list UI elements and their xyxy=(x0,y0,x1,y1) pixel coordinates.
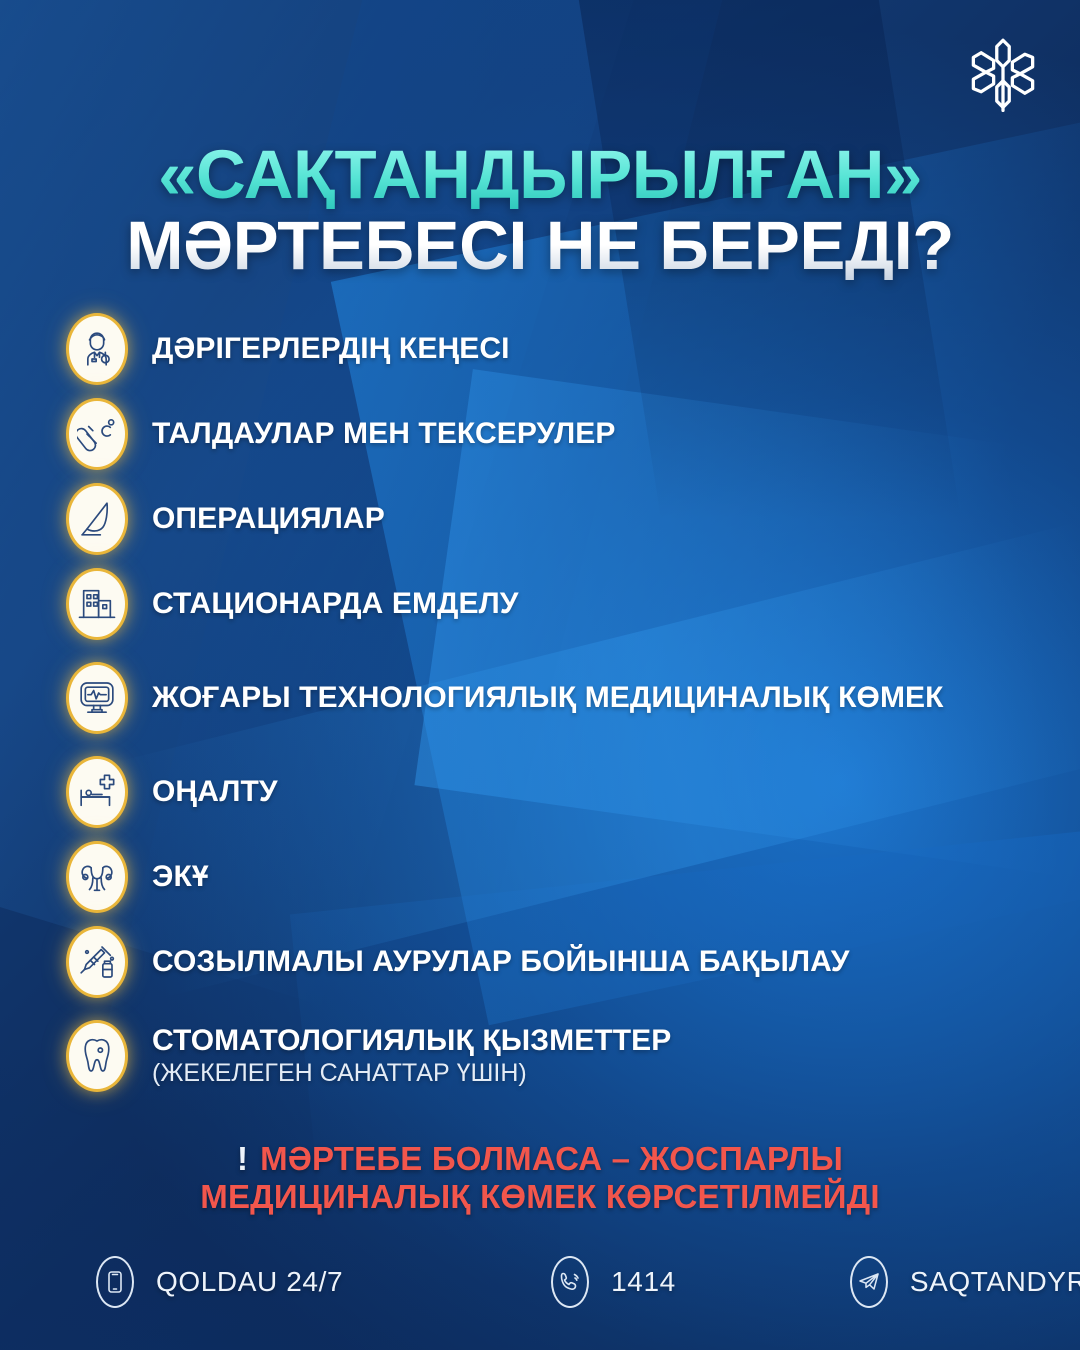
benefits-list: ДӘРІГЕРЛЕРДІҢ КЕҢЕСІ ТАЛДАУЛАР МЕН ТЕКСЕ… xyxy=(66,312,1046,1113)
contact-label: QOLDAU 24/7 xyxy=(156,1266,343,1298)
hexagonal-ornament-logo-icon xyxy=(964,34,1042,112)
list-item-sublabel: (ЖЕКЕЛЕГЕН САНАТТАР ҮШІН) xyxy=(152,1059,671,1087)
list-item-label: ОПЕРАЦИЯЛАР xyxy=(152,503,385,535)
scalpel-icon xyxy=(66,483,128,555)
doctor-icon xyxy=(66,313,128,385)
contact-phone[interactable]: 1414 xyxy=(551,1256,676,1308)
list-item: ДӘРІГЕРЛЕРДІҢ КЕҢЕСІ xyxy=(66,312,1046,386)
warning-line-1: !МӘРТЕБЕ БОЛМАСА – ЖОСПАРЛЫ xyxy=(0,1140,1080,1178)
list-item: ЭКҰ xyxy=(66,840,1046,914)
footer-contacts: QOLDAU 24/7 1414 SAQTANDYRÝBOT xyxy=(0,1256,1080,1308)
list-item-label: ТАЛДАУЛАР МЕН ТЕКСЕРУЛЕР xyxy=(152,418,616,450)
uterus-icon xyxy=(66,841,128,913)
warning-banner: !МӘРТЕБЕ БОЛМАСА – ЖОСПАРЛЫ МЕДИЦИНАЛЫҚ … xyxy=(0,1140,1080,1217)
hospital-icon xyxy=(66,568,128,640)
thermometer-icon xyxy=(66,398,128,470)
exclamation-icon: ! xyxy=(237,1140,248,1177)
ecg-monitor-icon xyxy=(66,662,128,734)
list-item: ТАЛДАУЛАР МЕН ТЕКСЕРУЛЕР xyxy=(66,397,1046,471)
list-item-label: ЖОҒАРЫ ТЕХНОЛОГИЯЛЫҚ МЕДИЦИНАЛЫҚ КӨМЕК xyxy=(152,682,944,714)
list-item: ОПЕРАЦИЯЛАР xyxy=(66,482,1046,556)
hospital-bed-icon xyxy=(66,756,128,828)
list-item-label: СТАЦИОНАРДА ЕМДЕЛУ xyxy=(152,588,519,620)
list-item-label: ДӘРІГЕРЛЕРДІҢ КЕҢЕСІ xyxy=(152,333,510,365)
syringe-vial-icon xyxy=(66,926,128,998)
list-item: ЖОҒАРЫ ТЕХНОЛОГИЯЛЫҚ МЕДИЦИНАЛЫҚ КӨМЕК xyxy=(66,652,1046,744)
list-item-label: ЭКҰ xyxy=(152,861,209,893)
list-item: ОҢАЛТУ xyxy=(66,755,1046,829)
list-item: СОЗЫЛМАЛЫ АУРУЛАР БОЙЫНША БАҚЫЛАУ xyxy=(66,925,1046,999)
contact-label: 1414 xyxy=(611,1266,676,1298)
list-item-label: СТОМАТОЛОГИЯЛЫҚ ҚЫЗМЕТТЕР xyxy=(152,1025,671,1057)
contact-telegram[interactable]: SAQTANDYRÝBOT xyxy=(850,1256,1080,1308)
list-item: СТАЦИОНАРДА ЕМДЕЛУ xyxy=(66,567,1046,641)
poster-canvas: «САҚТАНДЫРЫЛҒАН» МӘРТЕБЕСІ НЕ БЕРЕДІ? ДӘ… xyxy=(0,0,1080,1350)
warning-text-1: МӘРТЕБЕ БОЛМАСА – ЖОСПАРЛЫ xyxy=(260,1140,843,1177)
contact-label: SAQTANDYRÝBOT xyxy=(910,1266,1080,1298)
title-line-1: «САҚТАНДЫРЫЛҒАН» xyxy=(0,142,1080,209)
list-item-label: СОЗЫЛМАЛЫ АУРУЛАР БОЙЫНША БАҚЫЛАУ xyxy=(152,946,850,978)
page-title: «САҚТАНДЫРЫЛҒАН» МӘРТЕБЕСІ НЕ БЕРЕДІ? xyxy=(0,142,1080,280)
tooth-icon xyxy=(66,1020,128,1092)
phone-call-icon xyxy=(551,1256,589,1308)
contact-qoldau[interactable]: QOLDAU 24/7 xyxy=(96,1256,343,1308)
title-line-2: МӘРТЕБЕСІ НЕ БЕРЕДІ? xyxy=(0,213,1080,280)
list-item-label: ОҢАЛТУ xyxy=(152,776,278,808)
list-item: СТОМАТОЛОГИЯЛЫҚ ҚЫЗМЕТТЕР (ЖЕКЕЛЕГЕН САН… xyxy=(66,1010,1046,1102)
mobile-phone-icon xyxy=(96,1256,134,1308)
telegram-icon xyxy=(850,1256,888,1308)
warning-text-2: МЕДИЦИНАЛЫҚ КӨМЕК КӨРСЕТІЛМЕЙДІ xyxy=(0,1178,1080,1216)
